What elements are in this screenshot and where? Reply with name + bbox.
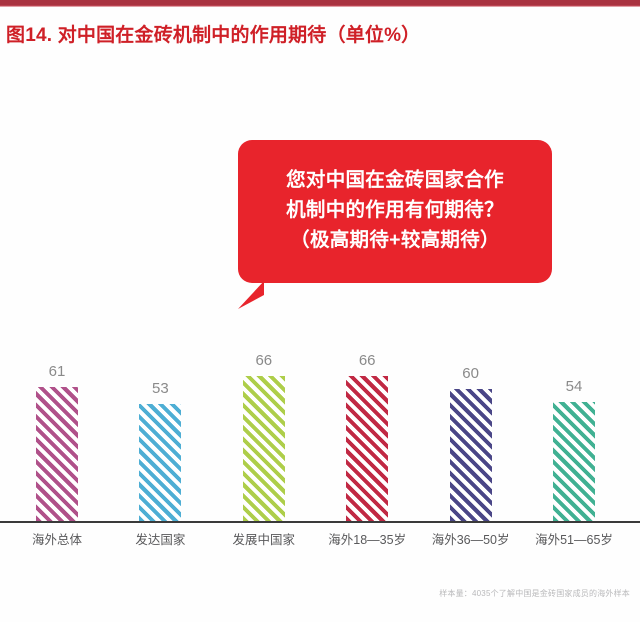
- sample-size-footnote: 样本量：4035个了解中国是金砖国家成员的海外样本: [439, 588, 630, 599]
- callout-line-2: 机制中的作用有何期待？: [238, 195, 552, 225]
- bar-6: [553, 402, 595, 521]
- x-axis-line: [0, 521, 640, 523]
- bar-3: [243, 376, 285, 521]
- bar-1: [36, 387, 78, 521]
- x-axis-label-6: 海外51—65岁: [514, 529, 634, 548]
- callout-bubble-text: 您对中国在金砖国家合作 机制中的作用有何期待？ （极高期待+较高期待）: [238, 165, 552, 255]
- x-axis-label-3: 发展中国家: [204, 529, 324, 548]
- bar-value-label-5: 60: [450, 365, 492, 382]
- bar-value-label-1: 61: [36, 363, 78, 380]
- callout-bubble: 您对中国在金砖国家合作 机制中的作用有何期待？ （极高期待+较高期待）: [238, 140, 552, 283]
- top-accent-bar-shade: [0, 5, 640, 7]
- bar-4: [346, 376, 388, 521]
- bar-2: [139, 404, 181, 521]
- callout-line-1: 您对中国在金砖国家合作: [238, 165, 552, 195]
- figure-canvas: 图14. 对中国在金砖机制中的作用期待（单位%） 您对中国在金砖国家合作 机制中…: [0, 0, 640, 622]
- bar-value-label-3: 66: [243, 352, 285, 369]
- x-axis-label-2: 发达国家: [100, 529, 220, 548]
- x-axis-label-4: 海外18—35岁: [307, 529, 427, 548]
- bar-5: [450, 389, 492, 521]
- callout-bubble-tail: [238, 281, 278, 311]
- bar-value-label-4: 66: [346, 352, 388, 369]
- x-axis-label-5: 海外36—50岁: [411, 529, 531, 548]
- bar-value-label-2: 53: [139, 380, 181, 397]
- figure-title: 图14. 对中国在金砖机制中的作用期待（单位%）: [6, 20, 420, 47]
- bar-value-label-6: 54: [553, 378, 595, 395]
- callout-line-3: （极高期待+较高期待）: [238, 225, 552, 255]
